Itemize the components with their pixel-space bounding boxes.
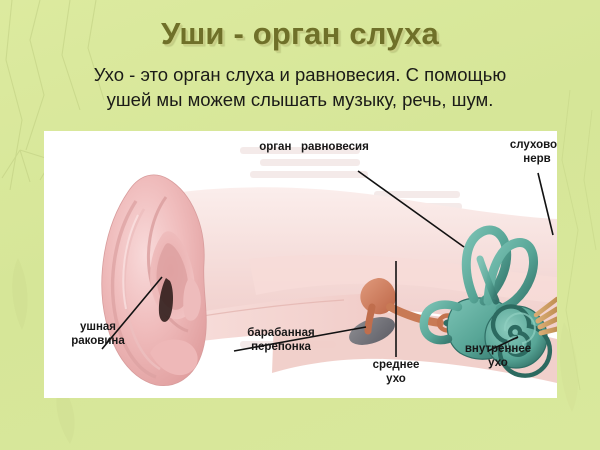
label-organ-of-balance-line2: равновесия <box>301 141 369 153</box>
label-organ-of-balance: орган равновесия <box>239 141 389 155</box>
label-auricle: ушная раковина <box>50 321 146 348</box>
slide-body-text: Ухо - это орган слуха и равновесия. С по… <box>30 62 570 112</box>
label-inner-ear-line2: ухо <box>448 357 548 371</box>
label-auricle-line1: ушная <box>50 321 146 335</box>
slide-title: Уши - орган слуха <box>0 16 600 52</box>
label-auditory-nerve-line1: слуховой <box>492 139 557 153</box>
ear-anatomy-figure: орган равновесия слуховой нерв ушная рак… <box>44 131 557 398</box>
label-middle-ear-line2: ухо <box>356 373 436 387</box>
label-auricle-line2: раковина <box>50 335 146 349</box>
label-inner-ear: внутреннее ухо <box>448 343 548 370</box>
label-auditory-nerve-line2: нерв <box>492 153 557 167</box>
label-auditory-nerve: слуховой нерв <box>492 139 557 166</box>
slide-canvas: Уши - орган слуха Ухо - это орган слуха … <box>0 0 600 450</box>
body-line-1: Ухо - это орган слуха и равновесия. С по… <box>30 62 570 87</box>
label-inner-ear-line1: внутреннее <box>448 343 548 357</box>
label-eardrum: барабанная перепонка <box>222 327 340 354</box>
label-middle-ear-line1: среднее <box>356 359 436 373</box>
label-middle-ear: среднее ухо <box>356 359 436 386</box>
label-eardrum-line1: барабанная <box>222 327 340 341</box>
body-line-2: ушей мы можем слышать музыку, речь, шум. <box>30 87 570 112</box>
label-organ-of-balance-line1: орган <box>259 141 291 153</box>
label-eardrum-line2: перепонка <box>222 341 340 355</box>
